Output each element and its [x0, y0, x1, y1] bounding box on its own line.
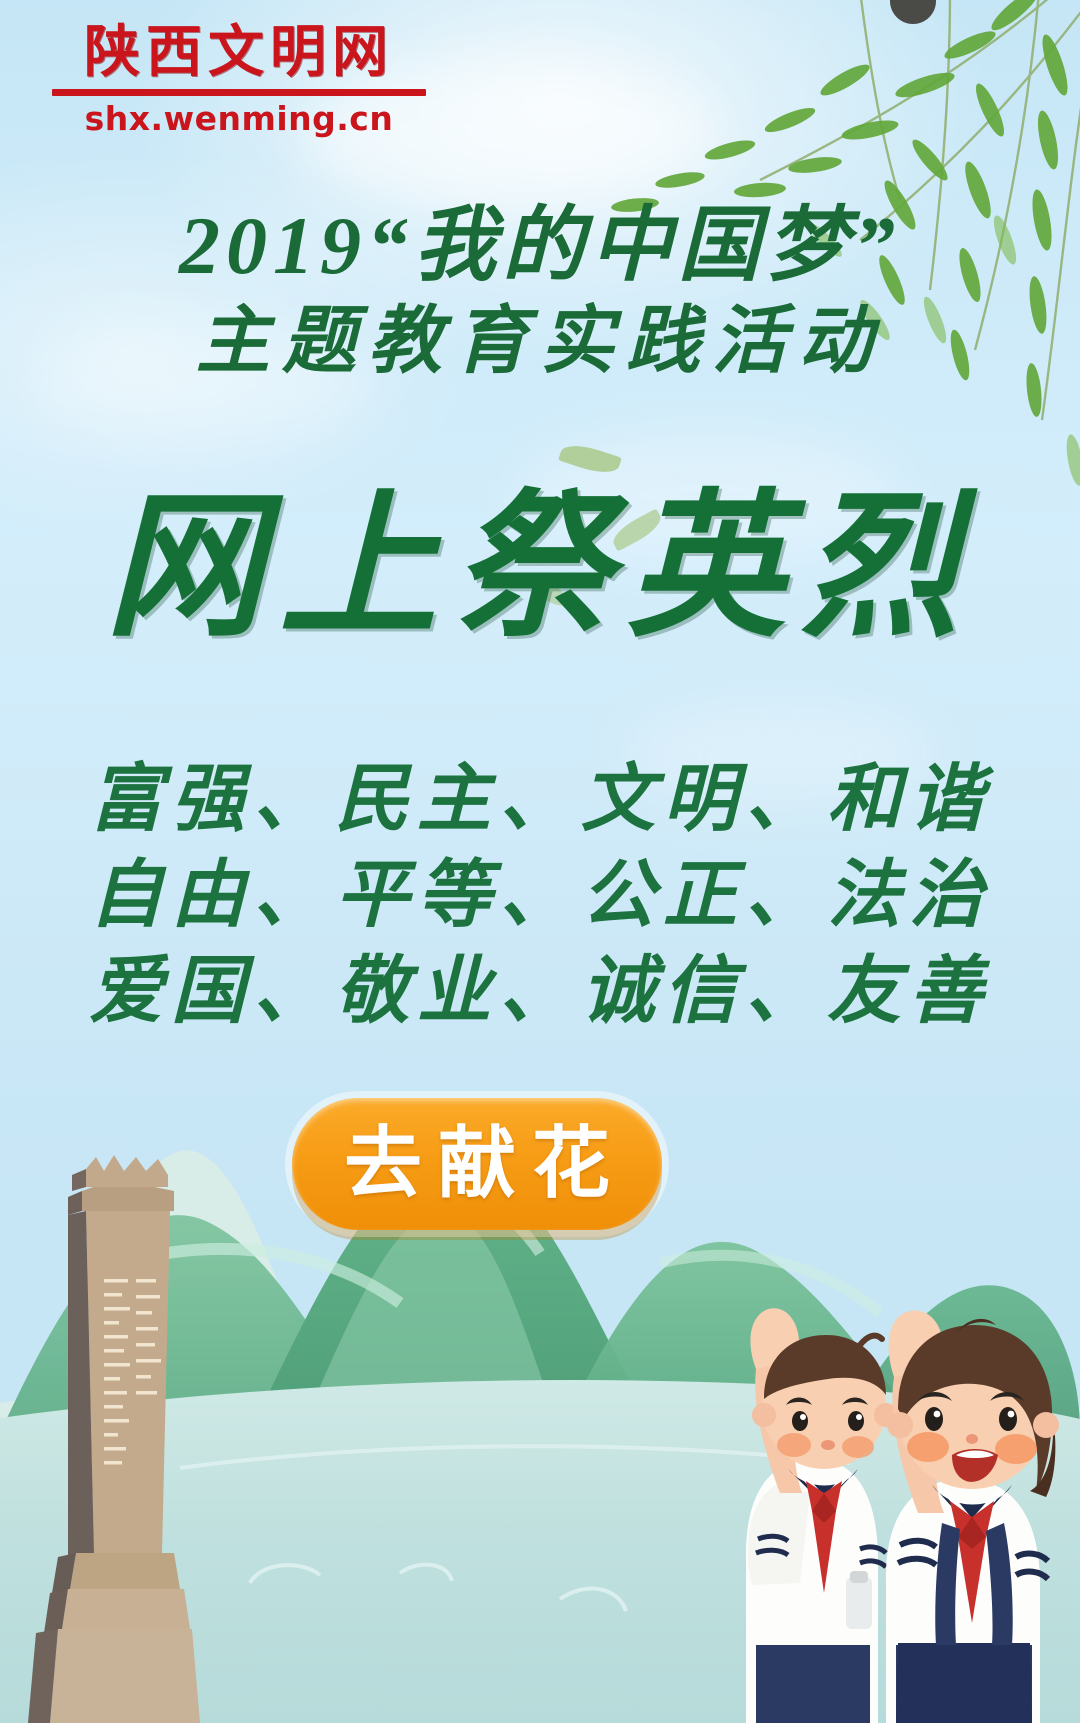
poster-canvas: 陕西文明网 shx.wenming.cn 2019“我的中国梦” 主题教育实践活…: [0, 0, 1080, 1723]
core-values-line1: 富强、民主、文明、和谐: [0, 752, 1080, 848]
core-values-line2: 自由、平等、公正、法治: [0, 848, 1080, 944]
child-boy: [746, 1308, 898, 1723]
go-offer-flowers-button[interactable]: 去献花: [292, 1098, 662, 1230]
site-logo-url: shx.wenming.cn: [44, 99, 434, 138]
theme-heading-line1: 2019“我的中国梦”: [0, 205, 1080, 287]
child-girl: [886, 1310, 1059, 1723]
page-title: 网上祭英烈: [0, 490, 1080, 648]
martyrs-monument: [24, 1083, 254, 1723]
logo-divider-rule: [52, 89, 426, 96]
theme-heading-block: 2019“我的中国梦” 主题教育实践活动: [0, 205, 1080, 379]
site-logo[interactable]: 陕西文明网 shx.wenming.cn: [44, 24, 434, 138]
saluting-young-pioneers: [660, 1193, 1080, 1723]
theme-heading-line2: 主题教育实践活动: [0, 305, 1080, 379]
site-logo-chinese: 陕西文明网: [44, 24, 434, 83]
